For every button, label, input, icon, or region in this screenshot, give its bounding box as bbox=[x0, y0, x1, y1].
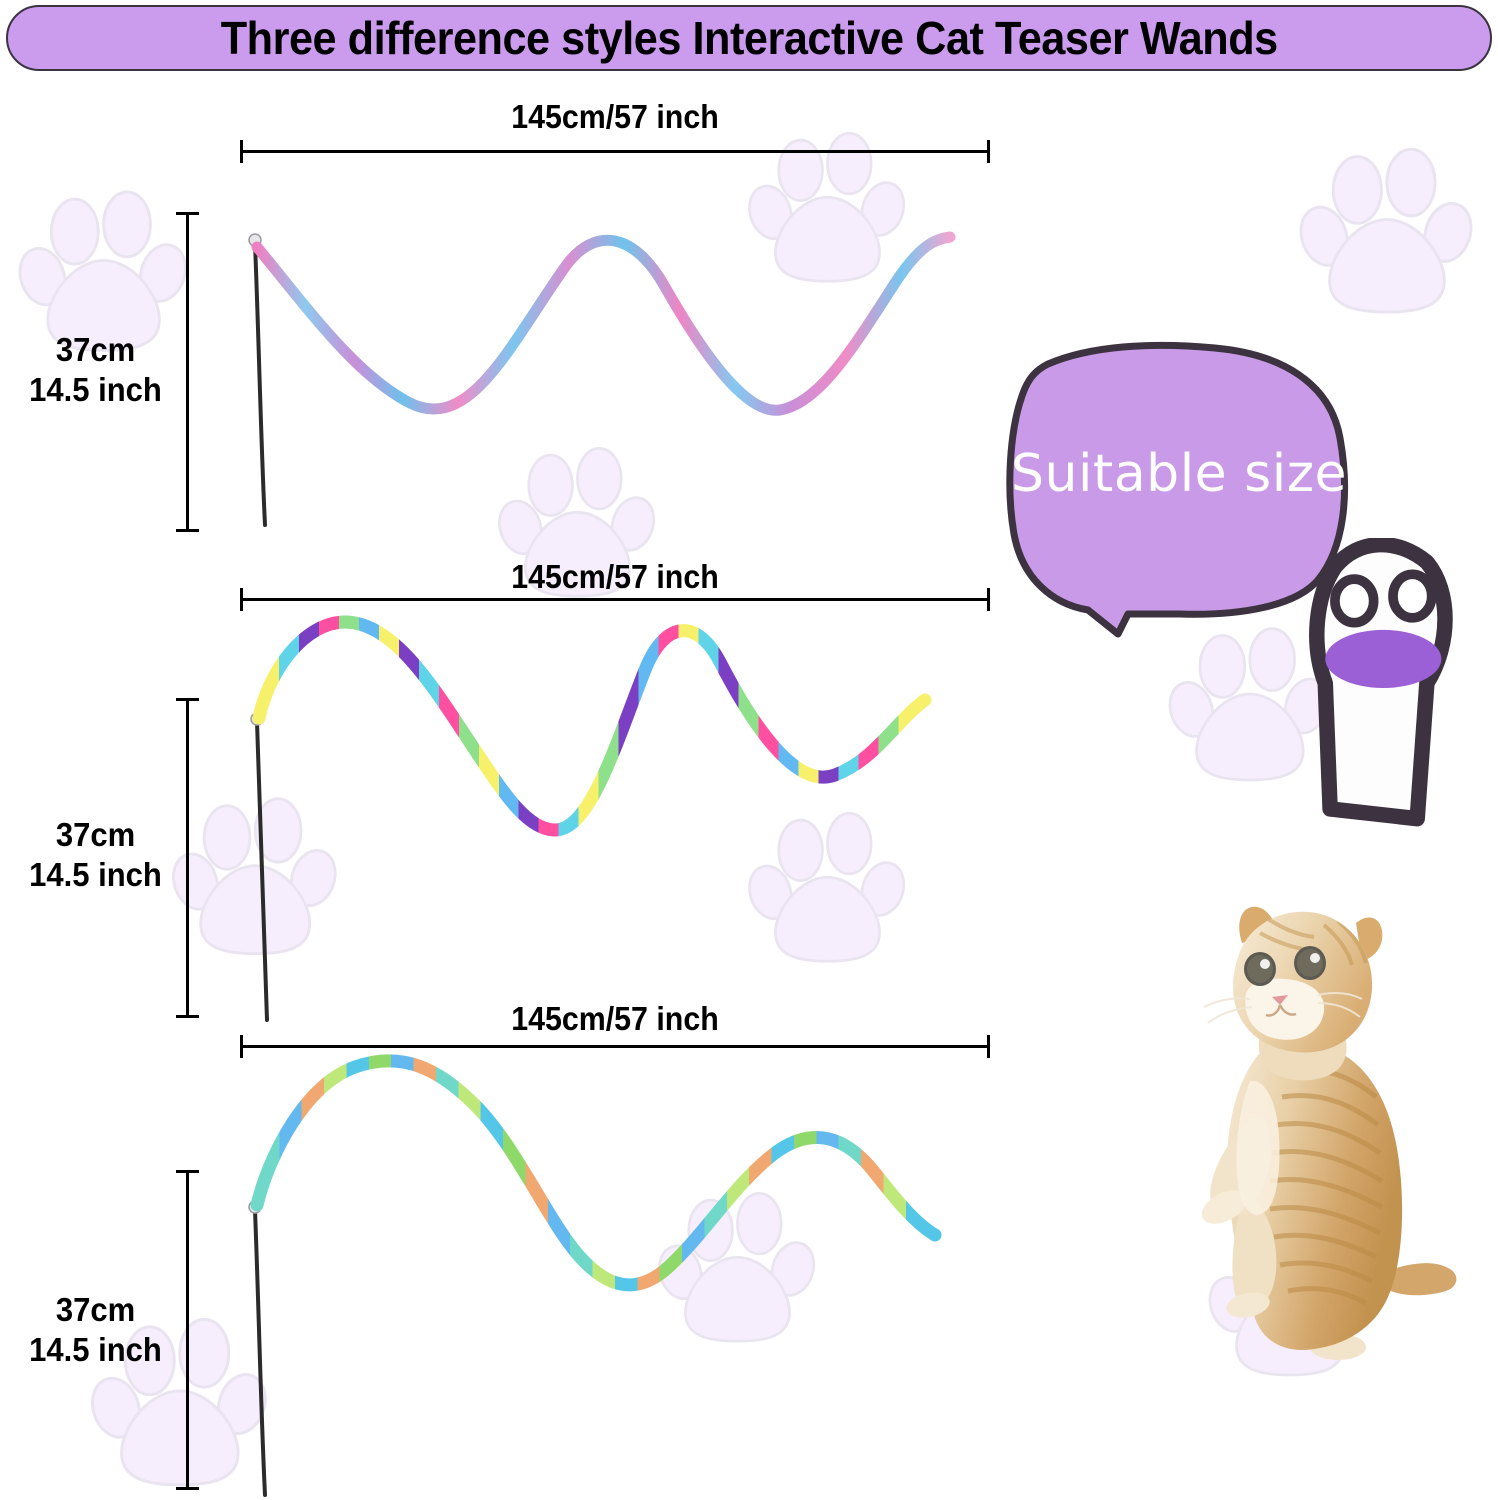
length-label-3: 145cm/57 inch bbox=[270, 1000, 960, 1038]
height-label-1: 37cm 14.5 inch bbox=[13, 330, 178, 411]
length-rule-1 bbox=[240, 140, 990, 162]
length-label-1: 145cm/57 inch bbox=[270, 98, 960, 136]
rule-cap-bottom bbox=[176, 529, 199, 532]
height-label-cm: 37cm bbox=[13, 1290, 178, 1330]
rule-cap-top bbox=[176, 212, 199, 215]
height-label-3: 37cm 14.5 inch bbox=[13, 1290, 178, 1371]
rule-cap-left bbox=[240, 588, 243, 611]
rule-cap-bottom bbox=[176, 1487, 199, 1490]
height-rule-1 bbox=[176, 212, 198, 532]
height-rule-3 bbox=[176, 1170, 198, 1490]
height-label-cm: 37cm bbox=[13, 815, 178, 855]
tie-dye-ribbon-wand bbox=[235, 225, 975, 545]
length-rule-3 bbox=[240, 1035, 990, 1057]
rule-cap-bottom bbox=[176, 1015, 199, 1018]
rule-cap-left bbox=[240, 140, 243, 163]
rule-cap-right bbox=[987, 1035, 990, 1058]
rule-cap-left bbox=[240, 1035, 243, 1058]
paw-print-icon bbox=[655, 1185, 830, 1353]
rule-cap-right bbox=[987, 588, 990, 611]
paw-print-icon bbox=[1295, 140, 1490, 325]
height-label-2: 37cm 14.5 inch bbox=[13, 815, 178, 896]
rule-bar bbox=[186, 212, 189, 532]
rule-bar bbox=[186, 698, 189, 1018]
height-rule-2 bbox=[176, 698, 198, 1018]
rule-bar bbox=[240, 1045, 990, 1048]
header-banner: Three difference styles Interactive Cat … bbox=[6, 5, 1492, 71]
height-label-cm: 37cm bbox=[13, 330, 178, 370]
paw-print-icon bbox=[745, 805, 920, 973]
rule-cap-top bbox=[176, 1170, 199, 1173]
height-label-inch: 14.5 inch bbox=[13, 855, 178, 895]
height-label-inch: 14.5 inch bbox=[13, 1330, 178, 1370]
callout-text: Suitable size bbox=[1000, 448, 1358, 500]
rule-bar bbox=[240, 150, 990, 153]
suitable-size-callout: Suitable size bbox=[1000, 338, 1358, 638]
cat-photo bbox=[1138, 885, 1478, 1375]
cat-paw-icon bbox=[1214, 538, 1264, 600]
page-title: Three difference styles Interactive Cat … bbox=[220, 15, 1277, 61]
height-label-inch: 14.5 inch bbox=[13, 370, 178, 410]
rule-cap-right bbox=[987, 140, 990, 163]
rainbow-block-ribbon-wand bbox=[235, 600, 975, 1030]
rule-bar bbox=[240, 598, 990, 601]
length-rule-2 bbox=[240, 588, 990, 610]
rule-bar bbox=[186, 1170, 189, 1490]
pastel-blue-green-ribbon-wand bbox=[235, 1045, 975, 1500]
rule-cap-top bbox=[176, 698, 199, 701]
